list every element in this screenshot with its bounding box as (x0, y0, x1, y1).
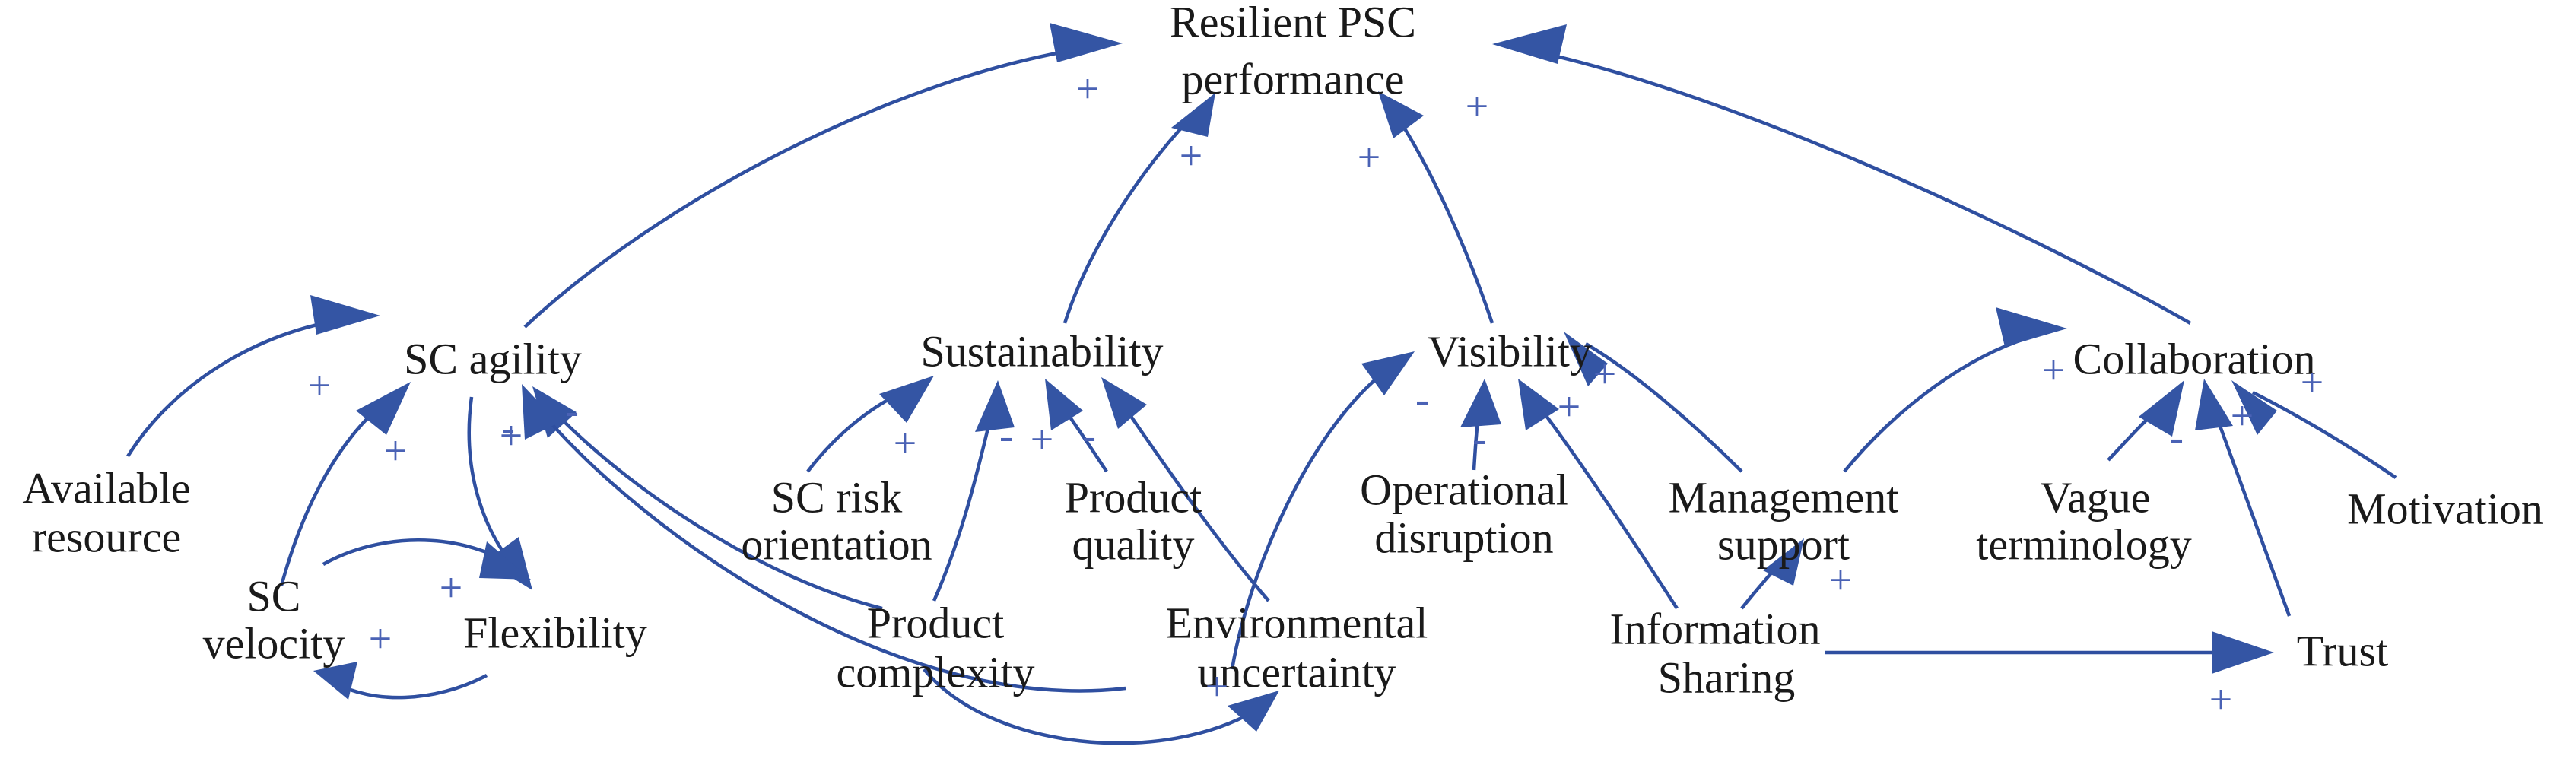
node-vague-terminology[interactable]: Vague terminology (1976, 472, 2192, 569)
arrowhead-environmental-uncertainty-to-visibility (1361, 351, 1415, 395)
node-operational-disruption[interactable]: Operational disruption (1360, 465, 1568, 562)
arrowhead-available-resource-to-sc-agility (310, 295, 380, 335)
polarity-operational-disruption-visibility: - (1472, 415, 1486, 461)
node-label-product-complexity-line2: complexity (837, 647, 1035, 697)
link-collaboration-to-resilient-psc (1514, 47, 2190, 323)
node-product-complexity[interactable]: Product complexity (837, 598, 1035, 697)
node-label-product-quality-line2: quality (1072, 519, 1194, 569)
polarity-visibility-resilient-psc: + (1358, 134, 1380, 179)
link-product-complexity-to-sustainability (934, 406, 993, 601)
polarity-flexibility-sc-velocity: + (369, 615, 392, 661)
node-product-quality[interactable]: Product quality (1065, 472, 1202, 569)
polarity-sustainability-resilient-psc: + (1180, 132, 1202, 178)
arrowhead-sc-risk-orientation-to-sustainability (879, 376, 934, 423)
node-label-product-quality-line1: Product (1065, 472, 1202, 522)
polarity-trust-collaboration: + (2231, 392, 2254, 438)
node-label-collaboration: Collaboration (2073, 334, 2316, 383)
node-label-product-complexity-line1: Product (867, 598, 1004, 647)
node-label-motivation: Motivation (2347, 484, 2543, 533)
polarity-available-resource-sc-agility: + (308, 362, 331, 408)
node-label-available-resource-line1: Available (22, 463, 190, 513)
polarity-sc-velocity-sc-agility: + (384, 427, 407, 473)
link-sc-velocity-to-flexibility (323, 540, 508, 564)
polarity-management-support-visibility: + (1593, 351, 1616, 396)
polarity-environmental-uncertainty-sc-agility: - (501, 405, 515, 450)
polarity-sc-risk-orientation-sustainability: + (894, 420, 916, 465)
causal-loop-diagram: Resilient PSC performance SC agility Sus… (0, 0, 2576, 778)
polarity-collaboration-resilient-psc: + (1466, 83, 1488, 129)
link-motivation-to-collaboration (2253, 392, 2396, 478)
node-motivation[interactable]: Motivation (2347, 484, 2543, 533)
polarity-management-support-collaboration: + (2042, 347, 2065, 392)
node-label-sustainability: Sustainability (921, 326, 1164, 376)
arrowhead-environmental-uncertainty-to-sustainability (1101, 377, 1147, 429)
node-available-resource[interactable]: Available resource (22, 463, 190, 561)
node-label-resilient-psc-performance-line2: performance (1181, 54, 1404, 103)
node-label-sc-velocity-line1: SC (247, 571, 301, 621)
node-label-management-support-line1: Management (1669, 472, 1899, 522)
node-label-flexibility: Flexibility (463, 608, 647, 657)
diagram-canvas: Resilient PSC performance SC agility Sus… (0, 0, 2576, 778)
node-sc-agility[interactable]: SC agility (404, 334, 582, 383)
node-label-sc-velocity-line2: velocity (203, 618, 345, 668)
polarity-product-complexity-environmental-uncertainty: + (1205, 663, 1228, 709)
link-management-support-to-collaboration (1844, 333, 2044, 472)
polarity-information-sharing-management-support: + (1829, 557, 1852, 602)
node-label-sc-agility: SC agility (404, 334, 582, 383)
node-trust[interactable]: Trust (2297, 626, 2388, 675)
polarity-product-quality-sustainability: + (1031, 416, 1053, 462)
node-flexibility[interactable]: Flexibility (463, 608, 647, 657)
node-label-environmental-uncertainty-line1: Environmental (1166, 598, 1428, 647)
node-label-vague-terminology-line2: terminology (1976, 519, 2192, 569)
node-collaboration[interactable]: Collaboration (2073, 334, 2316, 383)
node-label-sc-risk-orientation-line2: orientation (741, 519, 932, 569)
node-visibility[interactable]: Visibility (1428, 326, 1592, 376)
link-flexibility-to-sc-velocity (335, 675, 487, 697)
node-label-sc-risk-orientation-line1: SC risk (771, 472, 902, 522)
node-label-operational-disruption-line2: disruption (1374, 513, 1553, 562)
node-label-visibility: Visibility (1428, 326, 1592, 376)
polarity-sc-velocity-flexibility: + (440, 564, 462, 610)
node-sc-risk-orientation[interactable]: SC risk orientation (741, 472, 932, 569)
polarity-vague-terminology-collaboration: - (2170, 414, 2184, 459)
arrowhead-sc-agility-to-resilient-psc (1050, 23, 1123, 62)
node-sc-velocity[interactable]: SC velocity (203, 571, 345, 668)
node-label-information-sharing-line2: Sharing (1658, 653, 1795, 702)
node-label-trust: Trust (2297, 626, 2388, 675)
polarity-information-sharing-visibility: + (1558, 383, 1580, 429)
polarity-sc-agility-resilient-psc: + (1076, 65, 1099, 111)
polarity-product-complexity-sc-agility: - (565, 387, 579, 433)
polarity-motivation-collaboration: + (2301, 359, 2323, 405)
node-label-available-resource-line2: resource (32, 512, 181, 561)
arrowhead-trust-to-collaboration (2195, 379, 2233, 430)
node-label-resilient-psc-performance-line1: Resilient PSC (1170, 0, 1416, 46)
polarity-information-sharing-trust: + (2209, 676, 2232, 722)
node-label-layer: Resilient PSC performance SC agility Sus… (22, 0, 2543, 702)
polarity-environmental-uncertainty-visibility: - (1415, 376, 1429, 421)
node-management-support[interactable]: Management support (1669, 472, 1899, 569)
link-visibility-to-resilient-psc (1390, 106, 1492, 323)
node-information-sharing[interactable]: Information Sharing (1609, 604, 1820, 702)
node-label-operational-disruption-line1: Operational (1360, 465, 1568, 514)
arrowhead-management-support-to-collaboration (1996, 307, 2067, 347)
link-sc-agility-to-resilient-psc (525, 46, 1103, 327)
node-label-information-sharing-line1: Information (1609, 604, 1820, 653)
polarity-environmental-uncertainty-sustainability: - (1082, 412, 1096, 458)
node-label-vague-terminology-line1: Vague (2041, 472, 2151, 522)
arrowhead-collaboration-to-resilient-psc (1492, 24, 1567, 64)
arrowhead-information-sharing-to-trust (2212, 631, 2274, 674)
node-sustainability[interactable]: Sustainability (921, 326, 1164, 376)
polarity-product-complexity-sustainability: - (999, 412, 1013, 458)
node-resilient-psc-performance[interactable]: Resilient PSC performance (1170, 0, 1416, 103)
